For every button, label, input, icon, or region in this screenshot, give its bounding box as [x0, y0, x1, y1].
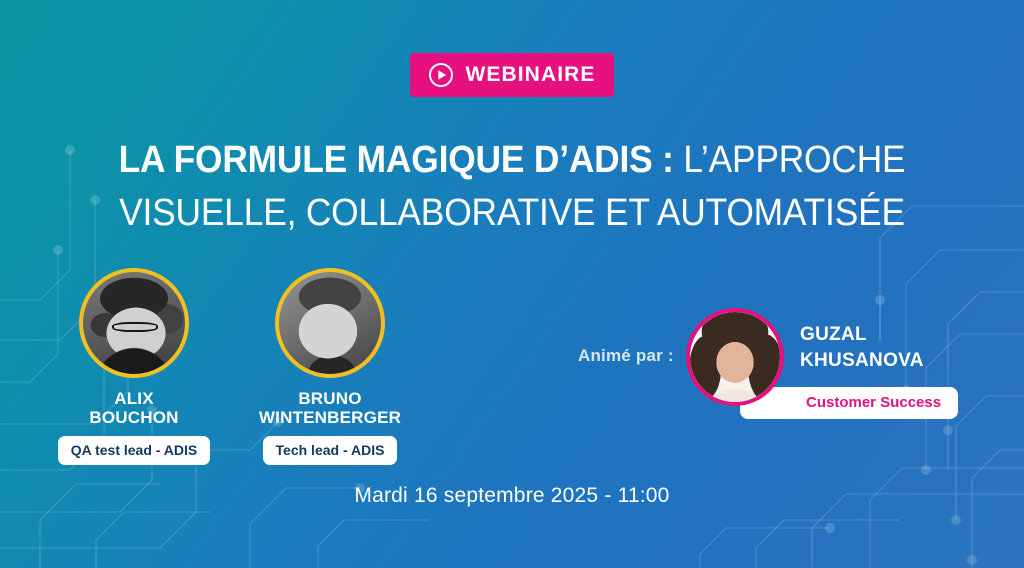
title-emphasis: LA FORMULE MAGIQUE D’ADIS : [119, 139, 674, 181]
speaker-portrait [83, 272, 185, 374]
host-portrait [690, 312, 780, 402]
speaker-name: ALIX BOUCHON [29, 389, 239, 427]
speaker-card-bruno-wintenberger: BRUNO WINTENBERGER Tech lead - ADIS [225, 268, 435, 465]
avatar [275, 268, 385, 378]
host-role-badge: Customer Success [740, 387, 958, 419]
speaker-first-name: BRUNO [225, 389, 435, 408]
host-intro-label: Animé par : [578, 346, 674, 366]
speaker-last-name: BOUCHON [29, 408, 239, 427]
avatar [79, 268, 189, 378]
webinar-badge: WEBINAIRE [410, 53, 614, 97]
page-title: LA FORMULE MAGIQUE D’ADIS : L’APPROCHE V… [36, 134, 988, 240]
host-avatar [686, 308, 784, 406]
speaker-name: BRUNO WINTENBERGER [225, 389, 435, 427]
host-name: GUZAL KHUSANOVA [800, 322, 924, 374]
event-datetime: Mardi 16 septembre 2025 - 11:00 [0, 484, 1024, 508]
webinar-badge-label: WEBINAIRE [465, 63, 595, 87]
speaker-first-name: ALIX [29, 389, 239, 408]
speaker-role-badge: Tech lead - ADIS [263, 436, 398, 465]
speaker-role-badge: QA test lead - ADIS [58, 436, 211, 465]
speaker-card-alix-bouchon: ALIX BOUCHON QA test lead - ADIS [29, 268, 239, 465]
speaker-portrait [279, 272, 381, 374]
webinar-promo-banner: WEBINAIRE LA FORMULE MAGIQUE D’ADIS : L’… [0, 0, 1024, 568]
host-first-name: GUZAL [800, 322, 924, 348]
speaker-last-name: WINTENBERGER [225, 408, 435, 427]
play-circle-icon [428, 62, 454, 88]
host-last-name: KHUSANOVA [800, 348, 924, 374]
